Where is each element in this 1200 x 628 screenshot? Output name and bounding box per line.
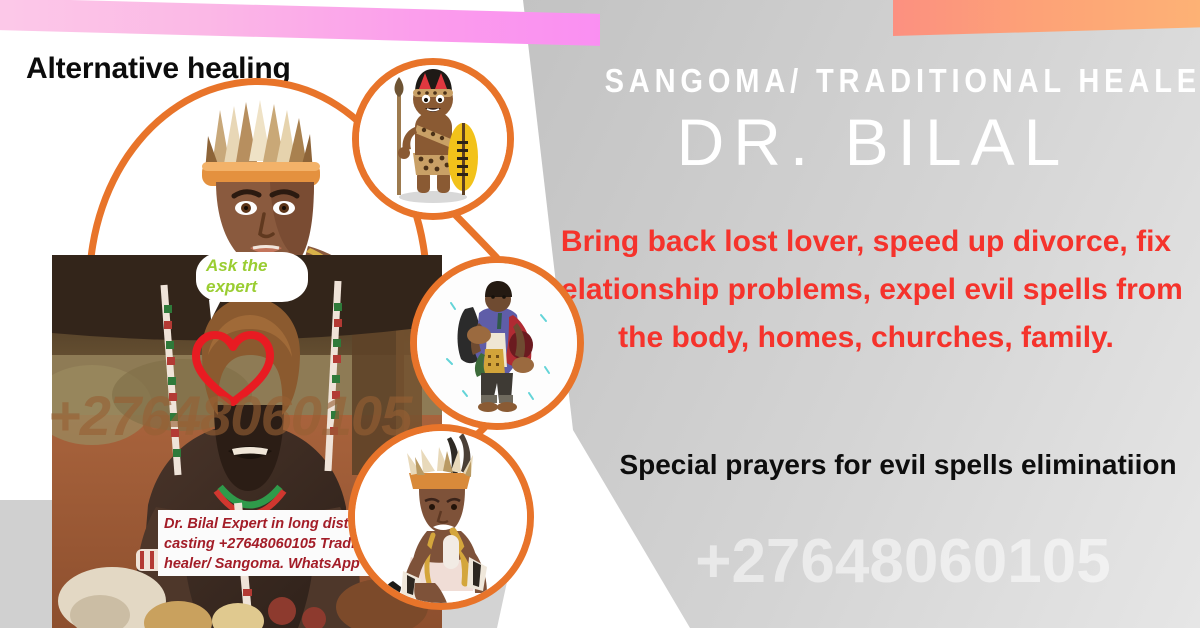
services-description: Bring back lost lover, speed up divorce,… bbox=[548, 218, 1184, 362]
kicker-title: SANGOMA/ TRADITIONAL HEALER bbox=[605, 62, 1142, 100]
speech-bubble-tail bbox=[209, 298, 224, 319]
speech-bubble-label: Ask the expert bbox=[206, 255, 306, 297]
doctor-name-title: DR. BILAL bbox=[568, 104, 1178, 180]
zulu-warrior-cartoon-icon bbox=[359, 65, 507, 213]
circle-badge-crouching-dancer[interactable] bbox=[348, 424, 534, 610]
cloaked-healer-icon bbox=[417, 263, 577, 423]
prayers-description: Special prayers for evil spells eliminat… bbox=[618, 444, 1178, 485]
watermark-phone-number: +27648060105 bbox=[618, 526, 1188, 597]
poster-canvas: Alternative healing bbox=[0, 0, 1200, 628]
sangoma-figure-illustration bbox=[150, 96, 370, 276]
circle-badge-cloaked-healer[interactable] bbox=[410, 256, 584, 430]
crouching-dancer-icon bbox=[355, 431, 527, 603]
circle-badge-zulu-warrior[interactable] bbox=[352, 58, 514, 220]
